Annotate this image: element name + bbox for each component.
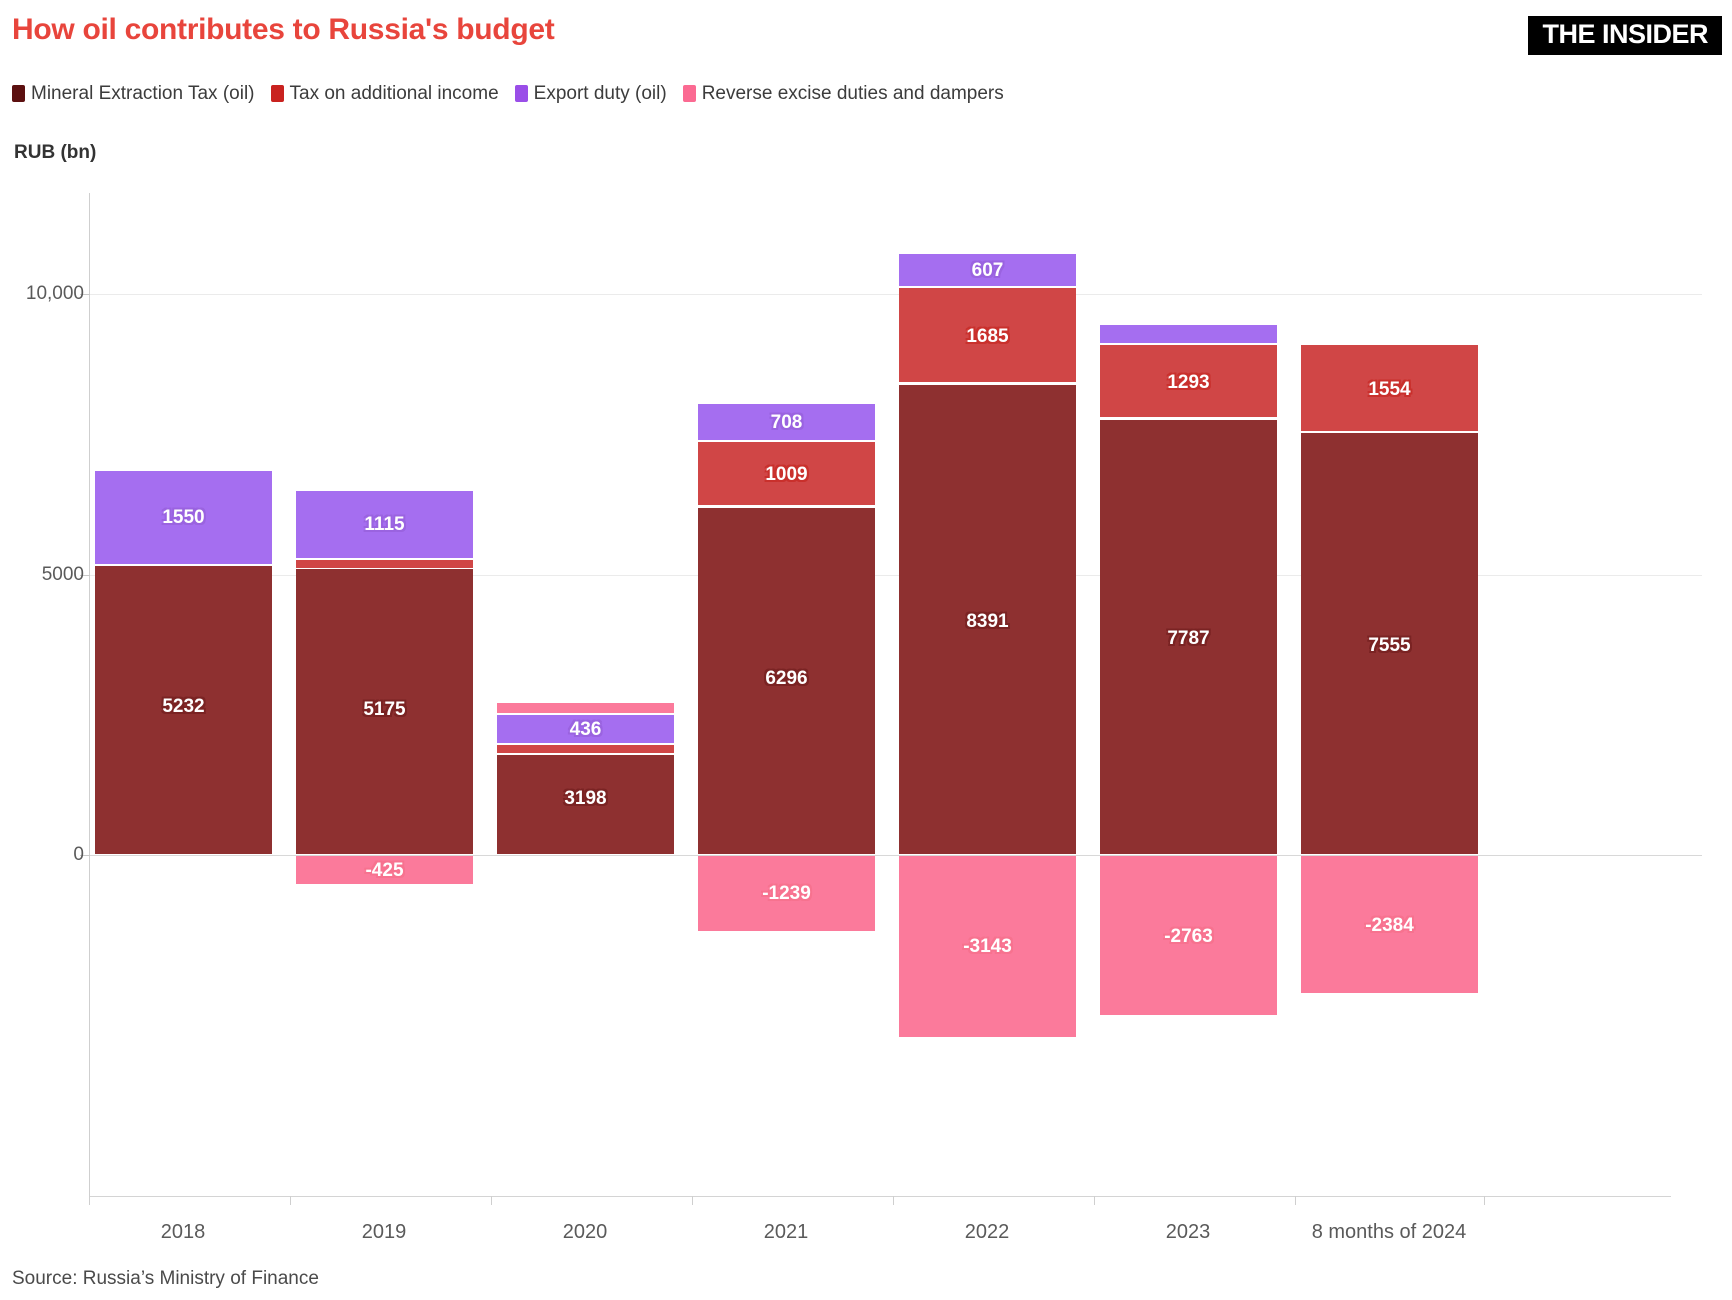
bar-segment-mineral-extraction-tax[interactable] bbox=[1100, 420, 1277, 854]
x-tick-mark bbox=[893, 1196, 894, 1205]
bar-segment-export-duty[interactable] bbox=[1100, 325, 1277, 343]
y-tick-label: 10,000 bbox=[26, 283, 84, 305]
gridline bbox=[90, 294, 1702, 295]
bar-segment-mineral-extraction-tax[interactable] bbox=[95, 566, 272, 854]
x-tick-mark bbox=[1295, 1196, 1296, 1205]
x-tick-label: 2020 bbox=[563, 1221, 608, 1244]
y-axis-line bbox=[89, 193, 90, 1196]
x-tick-label: 8 months of 2024 bbox=[1312, 1221, 1467, 1244]
x-tick-label: 2021 bbox=[764, 1221, 809, 1244]
bar-segment-reverse-excise-negative[interactable] bbox=[698, 856, 875, 931]
bar-segment-export-duty[interactable] bbox=[698, 404, 875, 440]
bar-segment-tax-on-additional-income[interactable] bbox=[1301, 345, 1478, 431]
bar-segment-export-duty[interactable] bbox=[497, 715, 674, 743]
bar-segment-tax-on-additional-income[interactable] bbox=[698, 442, 875, 505]
bar-segment-tax-on-additional-income[interactable] bbox=[899, 288, 1076, 382]
x-tick-mark bbox=[89, 1196, 90, 1205]
bar-segment-mineral-extraction-tax[interactable] bbox=[497, 755, 674, 854]
bar-segment-tax-on-additional-income[interactable] bbox=[1100, 345, 1277, 417]
x-tick-mark bbox=[692, 1196, 693, 1205]
bar-segment-reverse-excise-negative[interactable] bbox=[1100, 856, 1277, 1015]
bar-segment-reverse-excise-positive[interactable] bbox=[497, 703, 674, 713]
x-tick-mark bbox=[1484, 1196, 1485, 1205]
bar-segment-reverse-excise-negative[interactable] bbox=[1301, 856, 1478, 993]
bar-segment-tax-on-additional-income[interactable] bbox=[296, 560, 473, 568]
x-tick-label: 2019 bbox=[362, 1221, 407, 1244]
x-tick-label: 2018 bbox=[161, 1221, 206, 1244]
bar-segment-mineral-extraction-tax[interactable] bbox=[296, 569, 473, 854]
bar-segment-reverse-excise-negative[interactable] bbox=[296, 856, 473, 884]
bar-segment-mineral-extraction-tax[interactable] bbox=[1301, 433, 1478, 854]
bar-segment-mineral-extraction-tax[interactable] bbox=[698, 508, 875, 854]
x-tick-mark bbox=[1094, 1196, 1095, 1205]
bar-segment-export-duty[interactable] bbox=[95, 471, 272, 564]
x-tick-label: 2023 bbox=[1166, 1221, 1211, 1244]
bar-segment-tax-on-additional-income[interactable] bbox=[497, 745, 674, 753]
bar-segment-export-duty[interactable] bbox=[899, 254, 1076, 286]
y-tick-label: 5000 bbox=[42, 564, 84, 586]
bar-segment-reverse-excise-negative[interactable] bbox=[899, 856, 1076, 1037]
x-tick-label: 2022 bbox=[965, 1221, 1010, 1244]
bar-segment-mineral-extraction-tax[interactable] bbox=[899, 385, 1076, 854]
chart-plot-area: 10,0005000052321550201851751115-42520193… bbox=[0, 0, 1732, 1300]
x-axis-line bbox=[89, 1196, 1671, 1197]
source-note: Source: Russia’s Ministry of Finance bbox=[12, 1268, 319, 1290]
bar-segment-export-duty[interactable] bbox=[296, 491, 473, 558]
x-tick-mark bbox=[290, 1196, 291, 1205]
y-tick-label: 0 bbox=[73, 844, 84, 866]
x-tick-mark bbox=[491, 1196, 492, 1205]
